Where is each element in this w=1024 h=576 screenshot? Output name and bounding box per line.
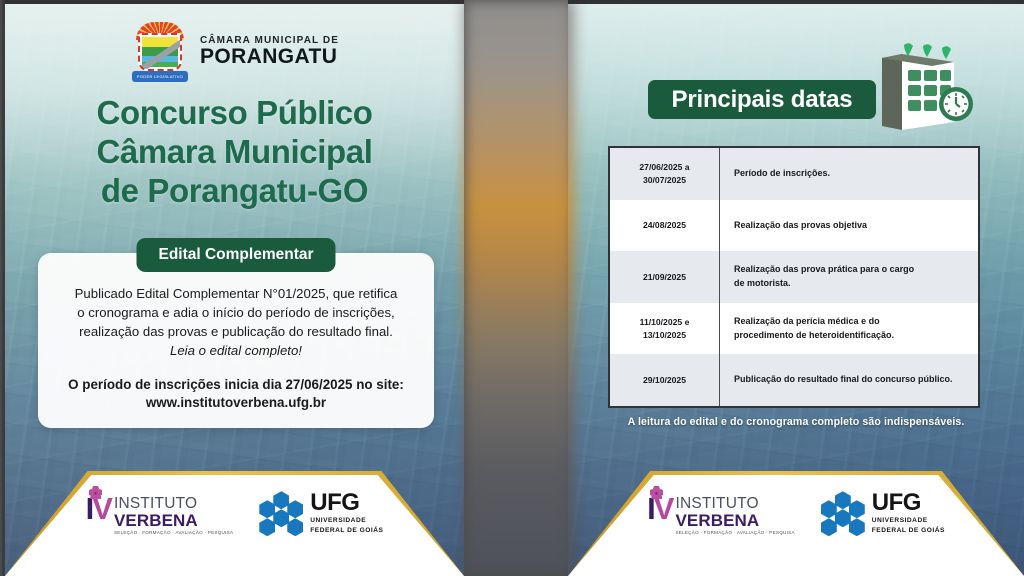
edital-cta: O período de inscrições inicia dia 27/06… [52, 376, 420, 414]
edital-body-line1: Publicado Edital Complementar N°01/2025,… [52, 285, 420, 304]
camara-logo-lockup: PODER LEGISLATIVO CÂMARA MUNICIPAL DE PO… [5, 22, 464, 82]
ufg-wordmark: UFG UNIVERSIDADE FEDERAL DE GOIÁS [310, 491, 383, 535]
ufg-logo-right: UFG UNIVERSIDADE FEDERAL DE GOIÁS [821, 491, 945, 535]
camara-logo-line2: PORANGATU [200, 46, 339, 68]
page-title-line3: de Porangatu-GO [5, 172, 464, 211]
iv-word-instituto-right: INSTITUTO [675, 496, 794, 512]
left-poster-panel: PODER LEGISLATIVO CÂMARA MUNICIPAL DE PO… [2, 0, 464, 576]
ufg-hexagon-icon [259, 491, 303, 535]
instituto-verbena-logo: IV INSTITUTO VERBENA SELEÇÃO · FORMAÇÃO … [86, 491, 234, 535]
edital-body-line3: realização das provas e publicação do re… [52, 323, 420, 342]
status-badge: Edital Complementar [136, 238, 335, 272]
ufg-line2-right: FEDERAL DE GOIÁS [872, 527, 945, 535]
left-panel-top-edge [5, 0, 464, 4]
footer-logos-right: IV INSTITUTO VERBENA SELEÇÃO · FORMAÇÃO … [568, 491, 1024, 535]
instituto-verbena-logo-right: IV INSTITUTO VERBENA SELEÇÃO · FORMAÇÃO … [647, 491, 795, 535]
left-footer: IV INSTITUTO VERBENA SELEÇÃO · FORMAÇÃO … [5, 471, 464, 576]
table-row: 21/09/2025 Realização das prova prática … [610, 251, 978, 303]
table-cell-date: 24/08/2025 [610, 200, 720, 252]
table-footnote: A leitura do edital e do cronograma comp… [568, 416, 1024, 428]
table-cell-description: Realização das prova prática para o carg… [720, 251, 978, 303]
ufg-acronym: UFG [310, 491, 383, 515]
ufg-hexagon-icon-right [821, 491, 865, 535]
table-cell-date: 11/10/2025 e13/10/2025 [610, 303, 720, 355]
table-row: 24/08/2025 Realização das provas objetiv… [610, 200, 978, 252]
blurred-divider-strip [464, 0, 574, 576]
verbena-flower-icon-right [650, 486, 663, 499]
table-cell-date: 29/10/2025 [610, 354, 720, 406]
porangatu-coat-of-arms-icon: PODER LEGISLATIVO [130, 22, 190, 82]
camara-logo-text: CÂMARA MUNICIPAL DE PORANGATU [200, 36, 339, 69]
edital-body-italic: Leia o edital completo! [52, 342, 420, 361]
iv-tagline-right: SELEÇÃO · FORMAÇÃO · AVALIAÇÃO · PESQUIS… [675, 530, 794, 535]
dates-table: 27/06/2025 a30/07/2025 Período de inscri… [608, 146, 980, 408]
coat-shield [138, 33, 182, 71]
edital-card: Edital Complementar Publicado Edital Com… [38, 253, 434, 428]
table-cell-description: Realização das provas objetiva [720, 200, 978, 252]
iv-tagline: SELEÇÃO · FORMAÇÃO · AVALIAÇÃO · PESQUIS… [114, 530, 233, 535]
page-title-line2: Câmara Municipal [5, 133, 464, 172]
coat-ribbon: PODER LEGISLATIVO [132, 71, 188, 82]
principais-datas-heading: Principais datas [648, 80, 876, 119]
table-cell-date: 21/09/2025 [610, 251, 720, 303]
footer-logos: IV INSTITUTO VERBENA SELEÇÃO · FORMAÇÃO … [5, 491, 464, 535]
poster-stage: PODER LEGISLATIVO CÂMARA MUNICIPAL DE PO… [0, 0, 1024, 576]
iv-word-verbena: VERBENA [114, 512, 233, 530]
table-cell-description: Realização da perícia médica e doprocedi… [720, 303, 978, 355]
iv-word-instituto: INSTITUTO [114, 496, 233, 512]
edital-cta-line1: O período de inscrições inicia dia 27/06… [52, 376, 420, 395]
right-footer: IV INSTITUTO VERBENA SELEÇÃO · FORMAÇÃO … [568, 471, 1024, 576]
verbena-flower-icon [89, 486, 102, 499]
iv-wordmark: INSTITUTO VERBENA SELEÇÃO · FORMAÇÃO · A… [114, 496, 233, 535]
edital-card-body: Publicado Edital Complementar N°01/2025,… [52, 285, 420, 413]
edital-body-line2: o cronograma e adia o início do período … [52, 304, 420, 323]
iv-wordmark-right: INSTITUTO VERBENA SELEÇÃO · FORMAÇÃO · A… [675, 496, 794, 535]
right-panel-top-edge [568, 0, 1024, 4]
table-row: 27/06/2025 a30/07/2025 Período de inscri… [610, 148, 978, 200]
edital-cta-website[interactable]: www.institutoverbena.ufg.br [52, 394, 420, 413]
iv-word-verbena-right: VERBENA [675, 512, 794, 530]
ufg-acronym-right: UFG [872, 491, 945, 515]
ufg-logo: UFG UNIVERSIDADE FEDERAL DE GOIÁS [259, 491, 383, 535]
ufg-line1-right: UNIVERSIDADE [872, 517, 945, 525]
table-cell-description: Período de inscrições. [720, 148, 978, 200]
page-title-line1: Concurso Público [5, 94, 464, 133]
calendar-clock-icon [868, 42, 974, 132]
iv-monogram: IV [86, 495, 111, 523]
table-cell-description: Publicação do resultado final do concurs… [720, 354, 978, 406]
ufg-line2: FEDERAL DE GOIÁS [310, 527, 383, 535]
table-row: 11/10/2025 e13/10/2025 Realização da per… [610, 303, 978, 355]
table-row: 29/10/2025 Publicação do resultado final… [610, 354, 978, 406]
ufg-wordmark-right: UFG UNIVERSIDADE FEDERAL DE GOIÁS [872, 491, 945, 535]
ufg-line1: UNIVERSIDADE [310, 517, 383, 525]
table-cell-date: 27/06/2025 a30/07/2025 [610, 148, 720, 200]
page-title: Concurso Público Câmara Municipal de Por… [5, 94, 464, 211]
iv-monogram-right: IV [647, 495, 672, 523]
